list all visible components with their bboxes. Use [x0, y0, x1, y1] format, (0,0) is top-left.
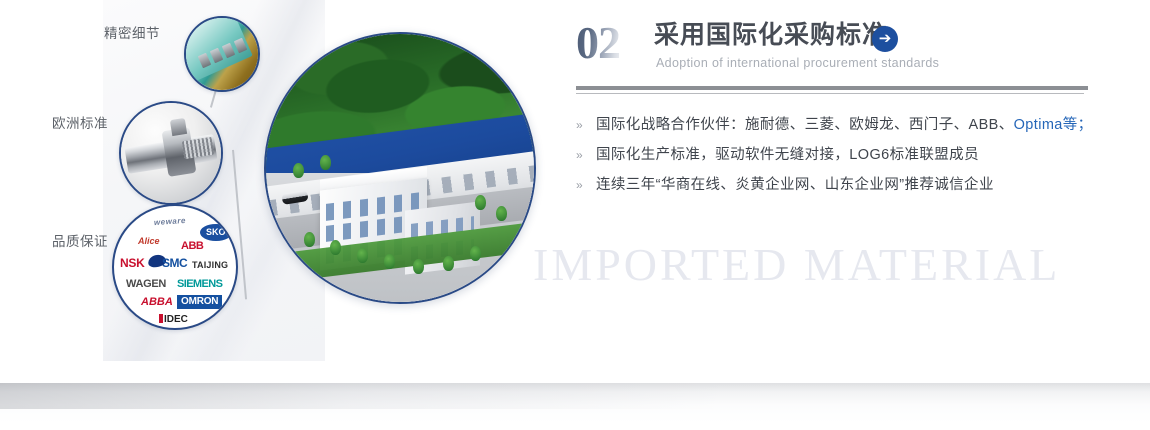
- brand-logo-cloud: weware SKO Alice ABB NSK SMC TAIJING WAG…: [112, 204, 238, 330]
- page-root: 精密细节 欧洲标准 品质保证 weware SKO Alice ABB NSK …: [0, 0, 1150, 430]
- bullet-list: » 国际化战略合作伙伴：施耐德、三菱、欧姆龙、西门子、ABB、Optima等； …: [576, 114, 1106, 204]
- ball-screw-closeup-image: [119, 101, 223, 205]
- tree: [470, 246, 481, 261]
- page-title: 采用国际化采购标准: [654, 22, 888, 50]
- chevron-right-icon: »: [576, 144, 596, 166]
- logo-wagen: WAGEN: [126, 279, 166, 290]
- chevron-right-icon: »: [576, 174, 596, 196]
- section-subtitle: Adoption of international procurement st…: [656, 56, 939, 70]
- tree: [293, 163, 304, 178]
- bottom-reflection-sheen: [0, 383, 780, 409]
- logo-idec: IDEC: [159, 314, 188, 325]
- tree: [357, 248, 368, 263]
- bullet-text: 连续三年“华商在线、炎黄企业网、山东企业网”推荐诚信企业: [596, 174, 994, 196]
- logo-weware: weware: [154, 217, 186, 227]
- header-divider: [576, 86, 1088, 94]
- tree: [475, 195, 486, 210]
- chevron-right-icon: »: [576, 114, 596, 136]
- watermark-text: IMPORTED MATERIAL: [533, 238, 1060, 291]
- factory-building-photo: [264, 32, 536, 304]
- bottom-reflection: [0, 383, 1150, 423]
- list-item: » 国际化生产标准，驱动软件无缝对接，LOG6标准联盟成员: [576, 144, 1106, 174]
- tree: [384, 254, 395, 269]
- bullet-text: 国际化生产标准，驱动软件无缝对接，LOG6标准联盟成员: [596, 144, 979, 166]
- section-number: 02: [576, 20, 620, 66]
- logo-smc: SMC: [162, 257, 187, 269]
- logo-idec-text: IDEC: [164, 314, 188, 325]
- divider-thick: [576, 86, 1088, 90]
- list-item: » 连续三年“华商在线、炎黄企业网、山东企业网”推荐诚信企业: [576, 174, 1106, 204]
- bullet-text-plain: 国际化战略合作伙伴：施耐德、三菱、欧姆龙、西门子、ABB、: [596, 117, 1014, 133]
- right-content: 02 采用国际化采购标准 ➔ Adoption of international…: [576, 22, 1106, 204]
- label-precision-detail: 精密细节: [104, 22, 160, 42]
- logo-nsk: NSK: [120, 257, 144, 269]
- logo-taijing: TAIJING: [192, 261, 228, 270]
- list-item: » 国际化战略合作伙伴：施耐德、三菱、欧姆龙、西门子、ABB、Optima等；: [576, 114, 1106, 144]
- bullet-text-highlight[interactable]: Optima等；: [1014, 117, 1093, 133]
- label-european-standard: 欧洲标准: [52, 112, 108, 132]
- logo-siemens: SIEMENS: [177, 279, 222, 290]
- logo-abb: ABB: [181, 241, 203, 252]
- label-quality-assurance: 品质保证: [52, 230, 108, 250]
- tree: [443, 256, 454, 271]
- bullet-text-plain: 连续三年“华商在线、炎黄企业网、山东企业网”推荐诚信企业: [596, 177, 994, 193]
- tree: [304, 232, 315, 247]
- logo-alice: Alice: [138, 237, 160, 246]
- logo-omron: OMRON: [177, 295, 222, 309]
- section-header: 02 采用国际化采购标准 ➔ Adoption of international…: [576, 22, 1106, 84]
- tree: [320, 155, 331, 170]
- logo-sko: SKO: [200, 224, 232, 241]
- logo-abba: ABBA: [141, 297, 173, 308]
- screw-knob: [170, 118, 187, 136]
- gear-closeup-image: [184, 16, 260, 92]
- divider-thin: [576, 93, 1084, 94]
- bullet-text: 国际化战略合作伙伴：施耐德、三菱、欧姆龙、西门子、ABB、Optima等；: [596, 114, 1093, 136]
- bullet-text-plain: 国际化生产标准，驱动软件无缝对接，LOG6标准联盟成员: [596, 147, 979, 163]
- arrow-right-icon[interactable]: ➔: [872, 26, 898, 52]
